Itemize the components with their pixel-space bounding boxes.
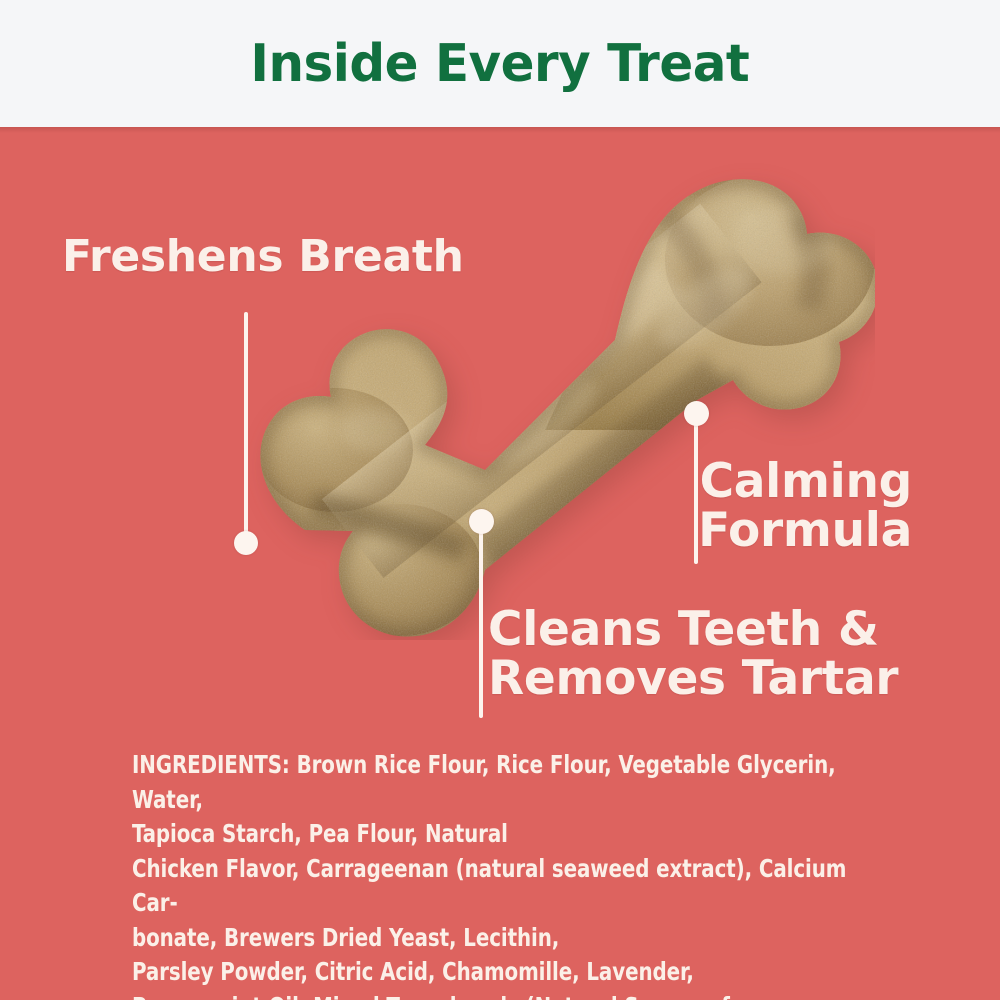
- infographic-page: Inside Every Treat: [0, 0, 1000, 1000]
- callout-label-cleans-teeth: Cleans Teeth & Removes Tartar: [488, 606, 898, 704]
- page-title: Inside Every Treat: [251, 38, 750, 90]
- leader-line-freshens-breath: [244, 312, 248, 544]
- callout-dot-freshens-breath: [234, 531, 258, 555]
- ingredients-text: INGREDIENTS: Brown Rice Flour, Rice Flou…: [132, 748, 888, 1000]
- leader-line-cleans-teeth: [479, 528, 483, 718]
- callout-label-freshens-breath: Freshens Breath: [62, 234, 464, 280]
- bone-body: [185, 100, 875, 640]
- dog-bone-image: [185, 100, 875, 640]
- callout-label-calming-formula: Calming Formula: [698, 458, 912, 556]
- callout-dot-cleans-teeth: [469, 509, 494, 534]
- leader-line-calming-formula: [694, 420, 698, 564]
- callout-dot-calming-formula: [684, 401, 709, 426]
